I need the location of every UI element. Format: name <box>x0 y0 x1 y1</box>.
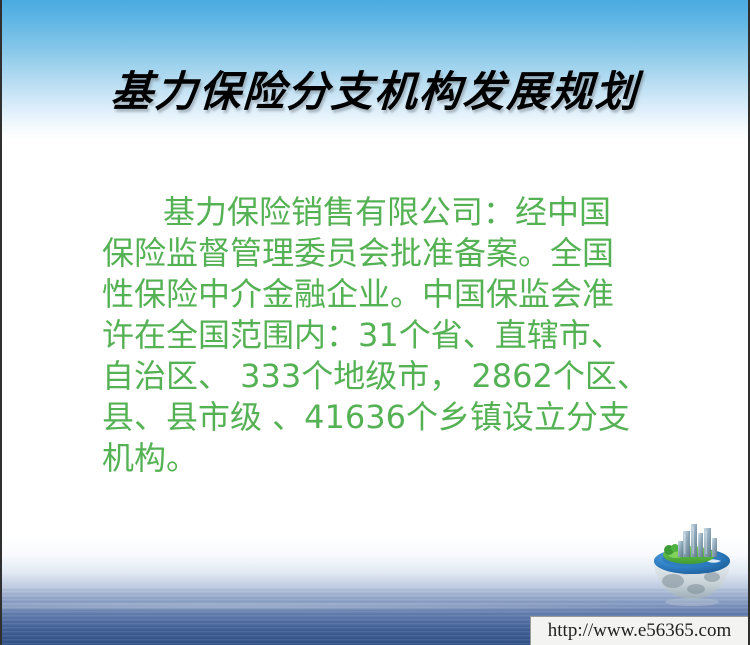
body-line: 许在全国范围内：31个省、直辖市、 <box>102 315 664 356</box>
water-glint <box>2 601 748 611</box>
body-line: 自治区、 333个地级市， 2862个区、 <box>102 356 664 397</box>
earth-city-globe-icon <box>649 519 735 607</box>
body-line: 性保险中介金融企业。中国保监会准 <box>102 274 664 315</box>
presentation-slide: 基力保险分支机构发展规划 基力保险销售有限公司：经中国 保险监督管理委员会批准备… <box>0 0 750 645</box>
body-line: 机构。 <box>102 438 664 479</box>
body-line: 县、县市级 、41636个乡镇设立分支 <box>102 397 664 438</box>
body-line: 基力保险销售有限公司：经中国 <box>102 192 664 233</box>
slide-body-text: 基力保险销售有限公司：经中国 保险监督管理委员会批准备案。全国 性保险中介金融企… <box>102 192 664 479</box>
watermark-url: http://www.e56365.com <box>530 616 748 645</box>
body-line: 保险监督管理委员会批准备案。全国 <box>102 233 664 274</box>
slide-title: 基力保险分支机构发展规划 <box>0 58 749 119</box>
